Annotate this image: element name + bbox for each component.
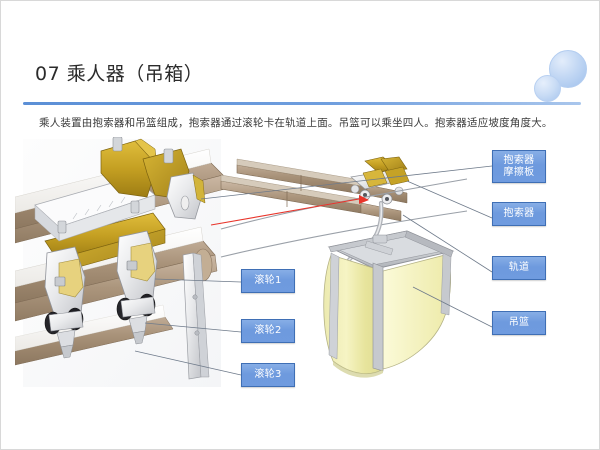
title-divider-rule: [23, 102, 581, 105]
callout-label-roller-1[interactable]: 滚轮1: [241, 269, 295, 293]
callout-label-cabin[interactable]: 吊篮: [492, 311, 546, 335]
callout-label-roller-3[interactable]: 滚轮3: [241, 363, 295, 387]
callout-label-roller-2[interactable]: 滚轮2: [241, 319, 295, 343]
description-text: 乘人装置由抱索器和吊篮组成，抱索器通过滚轮卡在轨道上面。吊篮可以乘坐四人。抱索器…: [39, 116, 569, 131]
slide-root: 07 乘人器（吊箱） 乘人装置由抱索器和吊篮组成，抱索器通过滚轮卡在轨道上面。吊…: [0, 0, 600, 450]
page-title: 07 乘人器（吊箱）: [35, 59, 203, 86]
decorative-small-circle: [534, 75, 561, 102]
callout-label-grip[interactable]: 抱索器: [492, 202, 546, 226]
callout-label-rail[interactable]: 轨道: [492, 256, 546, 280]
callout-label-grip-friction-plate[interactable]: 抱索器 摩擦板: [492, 150, 546, 183]
